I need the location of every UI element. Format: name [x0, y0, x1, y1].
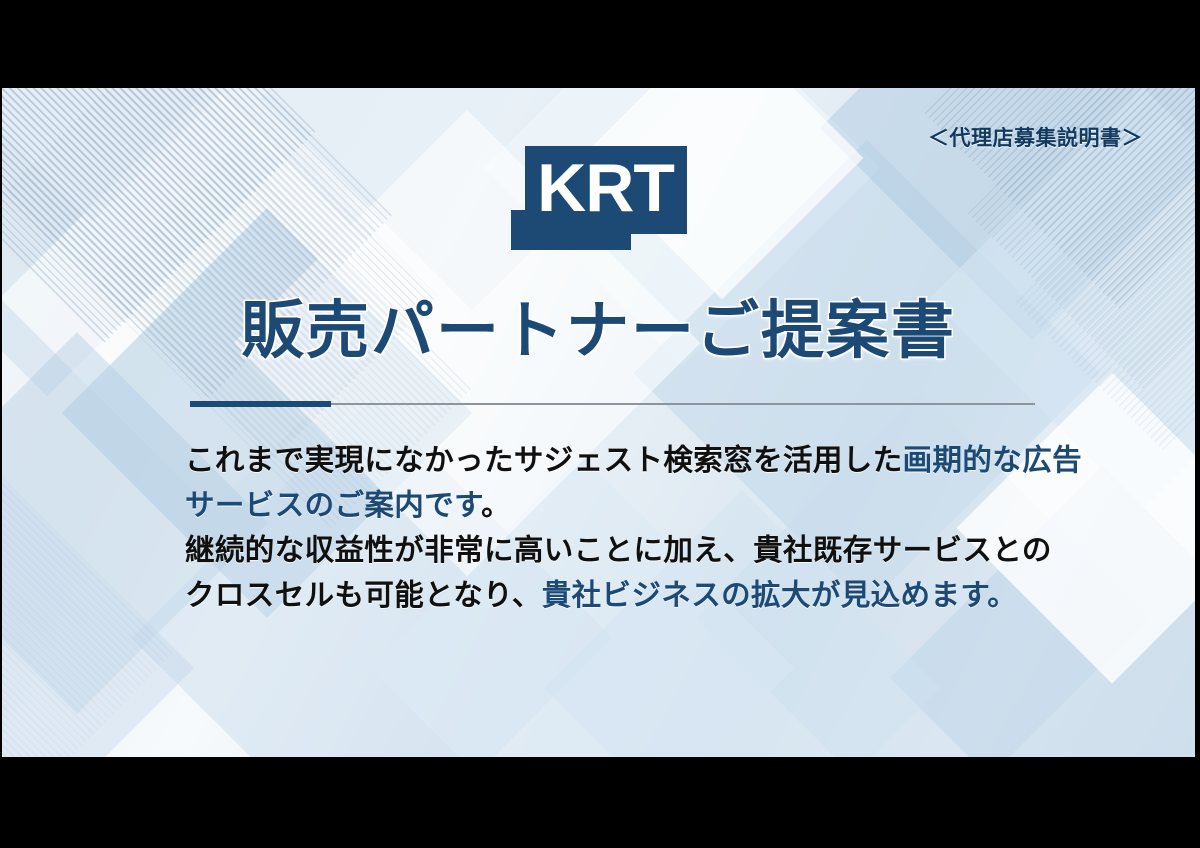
bg-diamond — [2, 456, 194, 757]
title-divider — [190, 401, 1035, 407]
body-line-3-black: 継続的な収益性が非常に高いことに加え、貴社既存サービスとの — [185, 534, 1052, 567]
krt-logo: KRT — [511, 146, 687, 264]
body-line-2-blue: サービスのご案内です — [185, 489, 481, 522]
body-line-4-blue: 貴社ビジネスの拡大が見込めます。 — [542, 579, 1017, 612]
body-line-1-black: これまで実現になかったサジェスト検索窓を活用した — [185, 444, 903, 477]
body-line-4: クロスセルも可能となり、貴社ビジネスの拡大が見込めます。 — [185, 573, 1105, 618]
body-line-4-black: クロスセルも可能となり、 — [185, 579, 542, 612]
body-copy: これまで実現になかったサジェスト検索窓を活用した画期的な広告 サービスのご案内で… — [185, 438, 1105, 618]
body-line-2-punct: 。 — [481, 489, 511, 522]
presentation-slide: ＜代理店募集説明書＞ KRT 販売パートナーご提案書 これまで実現になかったサジ… — [2, 88, 1195, 757]
body-line-3: 継続的な収益性が非常に高いことに加え、貴社既存サービスとの — [185, 528, 1105, 573]
bg-hatch-band — [2, 427, 173, 757]
logo-container: KRT — [2, 146, 1195, 264]
screenshot-stage: ＜代理店募集説明書＞ KRT 販売パートナーご提案書 これまで実現になかったサジ… — [0, 0, 1200, 848]
body-line-1-blue: 画期的な広告 — [903, 444, 1082, 477]
divider-accent-rule — [190, 401, 331, 407]
page-title: 販売パートナーご提案書 — [2, 280, 1195, 371]
body-line-2: サービスのご案内です。 — [185, 483, 1105, 528]
logo-text: KRT — [525, 146, 687, 234]
body-line-1: これまで実現になかったサジェスト検索窓を活用した画期的な広告 — [185, 438, 1105, 483]
